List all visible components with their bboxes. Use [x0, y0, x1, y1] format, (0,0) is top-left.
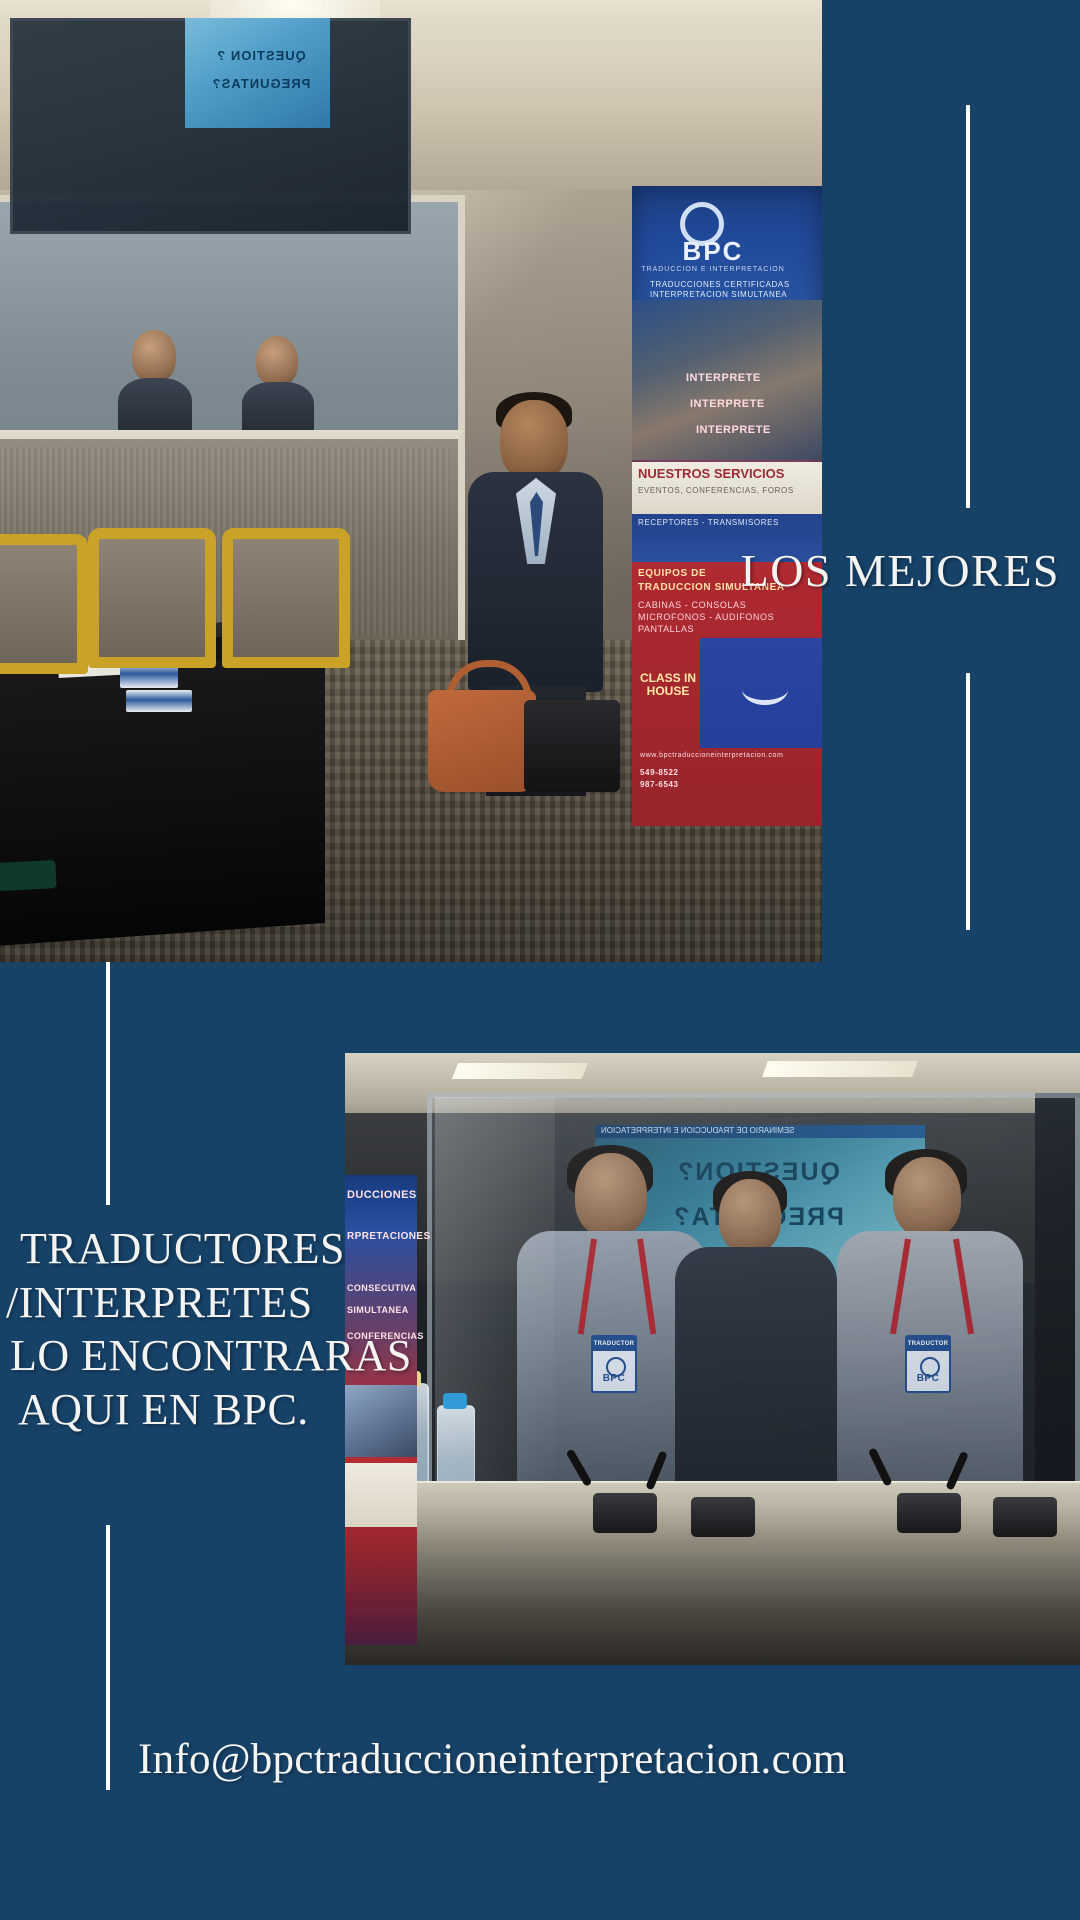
table-badge-2 [126, 690, 192, 712]
interpreter-console-2 [691, 1497, 755, 1537]
headline-block-left: TRADUCTORES /INTERPRETES LO ENCONTRARAS … [6, 1222, 476, 1437]
booth-person-body-2 [242, 382, 314, 436]
booth-person-head-1 [132, 330, 176, 382]
banner-bullet-0: TRADUCCIONES CERTIFICADAS [650, 280, 790, 289]
p2-banner-line-0: DUCCIONES [347, 1189, 417, 1201]
vertical-rule-top-right [966, 105, 970, 508]
projection-screen-line1: QUESTION ? [196, 48, 326, 63]
p2-banner-white-panel [345, 1463, 417, 1527]
projection-screen [185, 18, 330, 128]
interpreter-console-3 [897, 1493, 961, 1533]
vertical-rule-mid-left [106, 962, 110, 1205]
ceiling-light-right [762, 1061, 918, 1077]
banner-phone-2: 987-6543 [640, 780, 679, 789]
interpreter-console-4 [993, 1497, 1057, 1537]
headline-line-1: TRADUCTORES [6, 1222, 476, 1276]
banquet-chair-2 [88, 528, 216, 668]
banner-tag-2: INTERPRETE [696, 424, 771, 436]
floor-device [0, 860, 57, 892]
banner-class-in-house: CLASS IN HOUSE [636, 672, 700, 698]
banner-phone-1: 549-8522 [640, 768, 679, 777]
poster-canvas: QUESTION ? PREGUNTAS? [0, 0, 1080, 1920]
projection-screen-line2: PREGUNTAS? [196, 76, 326, 91]
photo-conference-booth: QUESTION ? PREGUNTAS? [0, 0, 822, 962]
headline-los-mejores: LOS MEJORES [741, 548, 1060, 594]
booth-person-head-2 [256, 336, 298, 386]
banner-offer-0: EQUIPOS DE [638, 568, 706, 579]
headline-line-2: /INTERPRETES [6, 1276, 476, 1330]
banner-blue-strip-text: RECEPTORES - TRANSMISORES [638, 518, 779, 527]
banner-web: www.bpctraduccioneinterpretacion.com [640, 752, 783, 759]
headline-line-3: LO ENCONTRARAS [6, 1329, 476, 1383]
booth-person-body-1 [118, 378, 192, 436]
banner-swirl-icon [742, 674, 788, 705]
bpc-logo-text: BPC [638, 236, 788, 267]
interpreter-console-1 [593, 1493, 657, 1533]
contact-email[interactable]: Info@bpctraduccioneinterpretacion.com [138, 1735, 847, 1784]
equipment-case [524, 700, 620, 792]
banner-services-sub: EVENTOS, CONFERENCIAS, FOROS [638, 486, 794, 495]
ceiling-light-left [452, 1063, 588, 1079]
banner-services-title: NUESTROS SERVICIOS [638, 466, 784, 481]
banquet-chair-1 [0, 534, 88, 674]
headline-line-4: AQUI EN BPC. [6, 1383, 476, 1437]
banquet-chair-3 [222, 528, 350, 668]
banner-tag-0: INTERPRETE [686, 372, 761, 384]
vertical-rule-mid-right [966, 673, 970, 930]
banner-offer-3: CABINAS - CONSOLAS [638, 600, 746, 610]
banner-tag-1: INTERPRETE [690, 398, 765, 410]
leather-bag [428, 690, 536, 792]
banner-offer-4: MICROFONOS - AUDIFONOS [638, 612, 774, 622]
vertical-rule-bottom-left [106, 1525, 110, 1790]
banner-offer-5: PANTALLAS [638, 624, 694, 634]
banner-bullet-1: INTERPRETACION SIMULTANEA [650, 290, 787, 299]
standing-man-head [500, 400, 568, 482]
bpc-tagline: TRADUCCION E INTERPRETACION [630, 266, 796, 273]
